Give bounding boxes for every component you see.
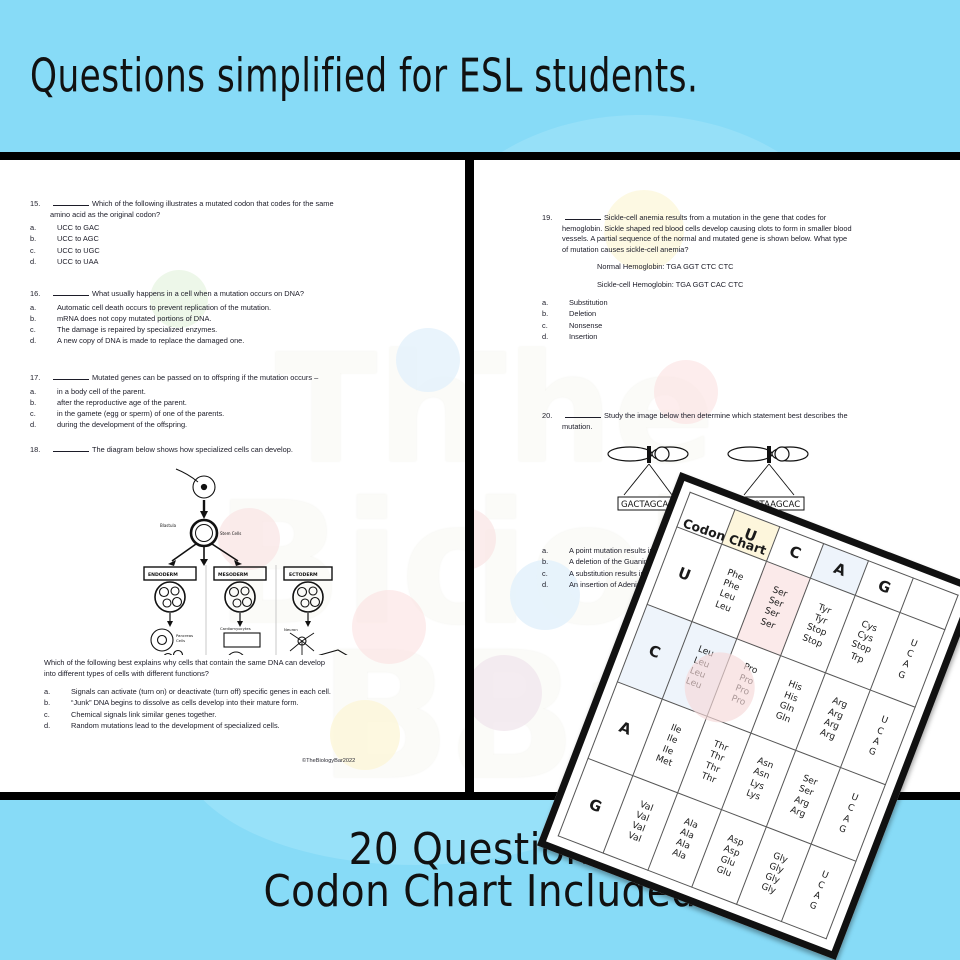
differentiation-svg: Blastula Stem Cells ENDODERM MESODERM EC…: [138, 465, 350, 655]
question-19-stem-line1: 19.Sickle-cell anemia results from a mut…: [542, 212, 942, 224]
option-letter: a.: [60, 686, 71, 697]
option-letter: c.: [46, 408, 57, 419]
option-text: The damage is repaired by specialized en…: [57, 325, 217, 334]
option-text: Signals can activate (turn on) or deacti…: [71, 687, 331, 696]
question-15: 15.Which of the following illustrates a …: [30, 198, 440, 267]
option-text: during the development of the offspring.: [57, 420, 187, 429]
option-text: mRNA does not copy mutated portions of D…: [57, 314, 211, 323]
option-text: in a body cell of the parent.: [57, 387, 146, 396]
question-20-stem-line2: mutation.: [542, 422, 942, 433]
question-16-number: 16.: [30, 289, 50, 300]
option-letter: c.: [558, 568, 569, 579]
option-text: Chemical signals link similar genes toge…: [71, 710, 216, 719]
option-b[interactable]: b.“Junk” DNA begins to dissolve as cells…: [44, 697, 454, 708]
option-a[interactable]: a.in a body cell of the parent.: [30, 386, 450, 397]
option-letter: b.: [46, 313, 57, 324]
option-letter: a.: [46, 222, 57, 233]
option-text: UCC to UGC: [57, 246, 100, 255]
question-20-number: 20.: [542, 411, 562, 422]
option-letter: d.: [46, 256, 57, 267]
question-15-stem-line1: 15.Which of the following illustrates a …: [30, 198, 440, 210]
banner-blob-decoration: [430, 115, 850, 152]
watermark-dot-pink-right: [474, 508, 496, 570]
label-mesoderm: MESODERM: [218, 572, 248, 578]
option-a[interactable]: a.Substitution: [542, 297, 942, 308]
followup-line1: Which of the following best explains why…: [44, 658, 454, 669]
option-letter: a.: [558, 545, 569, 556]
cell-differentiation-diagram: Blastula Stem Cells ENDODERM MESODERM EC…: [138, 465, 350, 655]
option-letter: c.: [46, 324, 57, 335]
question-18-options: a.Signals can activate (turn on) or deac…: [44, 686, 454, 731]
option-text: Deletion: [569, 309, 596, 318]
copyright-notice: ©TheBiologyBar2022: [302, 758, 355, 764]
option-letter: a.: [558, 297, 569, 308]
question-17-stem-line1: 17.Mutated genes can be passed on to off…: [30, 372, 450, 384]
sequence-sickle-hemoglobin: Sickle-cell Hemoglobin: TGA GGT CAC CTC: [542, 280, 942, 291]
option-a[interactable]: a.UCC to GAC: [30, 222, 440, 233]
answer-blank[interactable]: [53, 444, 89, 452]
question-19-number: 19.: [542, 213, 562, 224]
question-20-stem-line1: 20.Study the image below then determine …: [542, 410, 942, 422]
question-16-options: a.Automatic cell death occurs to prevent…: [30, 302, 450, 347]
option-letter: b.: [558, 556, 569, 567]
question-15-stem-line2: amino acid as the original codon?: [30, 210, 440, 221]
option-text: in the gamete (egg or sperm) of one of t…: [57, 409, 224, 418]
option-c[interactable]: c.Chemical signals link similar genes to…: [44, 709, 454, 720]
option-text: UCC to UAA: [57, 257, 98, 266]
option-letter: a.: [46, 386, 57, 397]
option-letter: d.: [60, 720, 71, 731]
label-cardiomyocytes: Cardiomyocytes: [220, 626, 251, 631]
label-stem-cells: Stem Cells: [220, 531, 241, 536]
option-c[interactable]: c.The damage is repaired by specialized …: [30, 324, 450, 335]
option-text: A new copy of DNA is made to replace the…: [57, 336, 244, 345]
question-15-options: a.UCC to GAC b.UCC to AGC c.UCC to UGC d…: [30, 222, 440, 267]
watermark-dot-red: [352, 590, 426, 664]
followup-line2: into different types of cells with diffe…: [44, 669, 454, 680]
label-endoderm: ENDODERM: [148, 572, 178, 578]
option-text: Random mutations lead to the development…: [71, 721, 280, 730]
label-pancreas-2: Cells: [176, 638, 185, 643]
option-c[interactable]: c.UCC to UGC: [30, 245, 440, 256]
option-text: UCC to GAC: [57, 223, 99, 232]
option-letter: c.: [60, 709, 71, 720]
question-19: 19.Sickle-cell anemia results from a mut…: [542, 212, 942, 342]
question-18-followup: Which of the following best explains why…: [44, 658, 454, 731]
option-text: Nonsense: [569, 321, 602, 330]
option-d[interactable]: d.during the development of the offsprin…: [30, 419, 450, 430]
option-letter: b.: [60, 697, 71, 708]
question-19-stem-line4: of mutation causes sickle-cell anemia?: [542, 245, 942, 256]
option-b[interactable]: b.after the reproductive age of the pare…: [30, 397, 450, 408]
option-b[interactable]: b.mRNA does not copy mutated portions of…: [30, 313, 450, 324]
option-letter: d.: [46, 335, 57, 346]
option-text: UCC to AGC: [57, 234, 99, 243]
option-letter: d.: [558, 579, 569, 590]
option-letter: b.: [46, 233, 57, 244]
question-20: 20.Study the image below then determine …: [542, 410, 942, 432]
sequence-normal-hemoglobin: Normal Hemoglobin: TGA GGT CTC CTC: [542, 262, 942, 273]
worksheet-page-left[interactable]: The Biolo Bar 15.Which of the following …: [0, 160, 465, 792]
option-text: “Junk” DNA begins to dissolve as cells d…: [71, 698, 299, 707]
option-text: Substitution: [569, 298, 608, 307]
answer-blank[interactable]: [565, 410, 601, 418]
option-text: Insertion: [569, 332, 597, 341]
question-19-stem-line3: vessels. A partial sequence of the norma…: [542, 234, 942, 245]
label-ectoderm: ECTODERM: [289, 572, 318, 578]
question-17: 17.Mutated genes can be passed on to off…: [30, 372, 450, 431]
option-letter: c.: [558, 320, 569, 331]
option-b[interactable]: b.Deletion: [542, 308, 942, 319]
option-letter: b.: [558, 308, 569, 319]
question-17-options: a.in a body cell of the parent. b.after …: [30, 386, 450, 431]
question-18: 18.The diagram below shows how specializ…: [30, 444, 450, 456]
question-19-stem-line2: hemoglobin. Sickle shaped red blood cell…: [542, 224, 942, 235]
option-d[interactable]: d.UCC to UAA: [30, 256, 440, 267]
answer-blank[interactable]: [53, 198, 89, 206]
question-16-stem-line1: 16.What usually happens in a cell when a…: [30, 288, 450, 300]
option-text: Automatic cell death occurs to prevent r…: [57, 303, 271, 312]
label-blastula: Blastula: [160, 523, 177, 528]
option-a[interactable]: a.Automatic cell death occurs to prevent…: [30, 302, 450, 313]
top-banner-text: Questions simplified for ESL students.: [30, 49, 698, 103]
option-letter: a.: [46, 302, 57, 313]
option-letter: b.: [46, 397, 57, 408]
option-d[interactable]: d.A new copy of DNA is made to replace t…: [30, 335, 450, 346]
option-letter: d.: [558, 331, 569, 342]
option-text: after the reproductive age of the parent…: [57, 398, 187, 407]
label-neuron: Neuron: [284, 627, 298, 632]
answer-blank[interactable]: [565, 212, 601, 220]
question-17-number: 17.: [30, 373, 50, 384]
option-letter: d.: [46, 419, 57, 430]
answer-blank[interactable]: [53, 372, 89, 380]
option-d[interactable]: d.Random mutations lead to the developme…: [44, 720, 454, 731]
option-a[interactable]: a.Signals can activate (turn on) or deac…: [44, 686, 454, 697]
question-19-options: a.Substitution b.Deletion c.Nonsense d.I…: [542, 297, 942, 342]
option-letter: c.: [46, 245, 57, 256]
option-d[interactable]: d.Insertion: [542, 331, 942, 342]
option-c[interactable]: c.Nonsense: [542, 320, 942, 331]
question-18-number: 18.: [30, 445, 50, 456]
question-15-number: 15.: [30, 199, 50, 210]
watermark-dot-purple-right: [474, 655, 542, 731]
question-16: 16.What usually happens in a cell when a…: [30, 288, 450, 347]
answer-blank[interactable]: [53, 288, 89, 296]
option-b[interactable]: b.UCC to AGC: [30, 233, 440, 244]
option-c[interactable]: c.in the gamete (egg or sperm) of one of…: [30, 408, 450, 419]
top-banner: Questions simplified for ESL students.: [0, 0, 960, 152]
question-18-stem-line1: 18.The diagram below shows how specializ…: [30, 444, 450, 456]
